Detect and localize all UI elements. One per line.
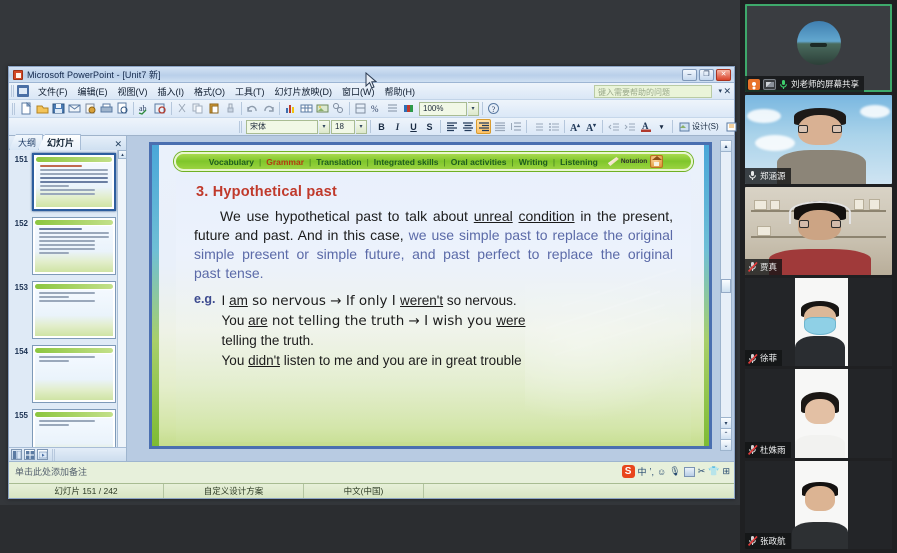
thumbnail-navbar	[35, 284, 113, 289]
thumbnail-line	[39, 420, 95, 422]
slide-thumbnail-pane: 大纲 幻灯片 ✕ 151	[9, 136, 127, 461]
thumbnail-body	[35, 226, 113, 272]
svg-text:?: ?	[492, 105, 496, 114]
scroll-up-icon[interactable]: ▴	[721, 141, 731, 152]
align-right-button[interactable]	[476, 119, 491, 134]
chevron-down-icon[interactable]: ▾	[718, 87, 722, 95]
mic-muted-icon	[748, 444, 757, 455]
menu-view[interactable]: 视图(V)	[113, 84, 153, 99]
slide-right-stripe	[704, 145, 709, 446]
example-lines: I am so nervous → If only I weren't so n…	[222, 291, 526, 370]
ime-toolbar: S 中 ʼ, ☺ 🎙 ✂ 👕 ⊞	[622, 465, 730, 478]
thumbnail-line	[40, 177, 108, 179]
slide-show-icon[interactable]	[37, 449, 48, 460]
screen-share-icon	[763, 79, 776, 90]
example-line-2-underline-are: are	[248, 313, 268, 328]
example-line-1-seg-b: so nervous → If only I	[248, 293, 400, 309]
slide-vertical-scrollbar[interactable]: ▴ ▾ ⌃ ⌄	[720, 140, 732, 451]
sogou-logo-icon[interactable]: S	[622, 465, 635, 478]
italic-button[interactable]: I	[390, 119, 405, 134]
host-badge-icon	[748, 79, 760, 90]
thumbnail-line	[39, 240, 95, 242]
participant-name-row: 郑涵源	[745, 168, 791, 184]
design-label: 设计(S)	[692, 121, 719, 132]
person-torso	[777, 150, 865, 184]
menu-edit[interactable]: 编辑(E)	[73, 84, 113, 99]
screen-root: Microsoft PowerPoint - [Unit7 新] – ❐ ✕ 文…	[0, 0, 897, 553]
toolbar-divider	[526, 120, 527, 133]
scrollbar-track[interactable]	[721, 152, 731, 417]
toolbar-divider	[171, 102, 172, 115]
thumbnail-preview[interactable]	[32, 281, 116, 339]
notes-placeholder: 单击此处添加备注	[15, 467, 87, 477]
close-icon[interactable]: ✕	[723, 85, 731, 97]
example-line-1-underline-am: am	[229, 293, 248, 308]
home-icon[interactable]	[650, 155, 663, 168]
nav-oral-activities[interactable]: Oral activities	[446, 157, 512, 167]
svg-text:%: %	[371, 104, 379, 114]
scroll-up-icon[interactable]: ▴	[118, 150, 126, 159]
menu-format[interactable]: 格式(O)	[189, 84, 230, 99]
permission-icon[interactable]	[83, 101, 98, 116]
toolbar-divider	[602, 120, 603, 133]
thumbnail-item[interactable]: 151	[9, 153, 126, 217]
window-controls: – ❐ ✕	[682, 69, 732, 81]
paragraph-underline-condition: condition	[519, 208, 575, 224]
person-torso	[769, 249, 872, 275]
standard-toolbar: ab % 100% ▾ ?	[9, 100, 734, 118]
slide-edit-area: Vocabulary | Grammar | Translation | Int…	[127, 136, 734, 461]
insert-table-icon[interactable]	[299, 101, 314, 116]
toolbar-grip[interactable]	[239, 121, 243, 133]
menu-slideshow[interactable]: 幻灯片放映(D)	[270, 84, 338, 99]
headphones	[789, 201, 851, 224]
participant-name: 刘老师的屏幕共享	[791, 78, 859, 90]
thumbnail-line	[39, 232, 109, 234]
nav-vocabulary[interactable]: Vocabulary	[204, 157, 259, 167]
minimize-button[interactable]: –	[682, 69, 697, 81]
align-left-button[interactable]	[444, 119, 459, 134]
help-search-input[interactable]: 键入需要帮助的问题	[594, 85, 712, 98]
new-icon[interactable]	[19, 101, 34, 116]
person-torso	[792, 522, 848, 548]
thumbnail-body	[35, 290, 113, 336]
window-title: Microsoft PowerPoint - [Unit7 新]	[27, 68, 161, 81]
bulleted-list-button[interactable]	[546, 119, 561, 134]
chevron-down-icon[interactable]: ▾	[319, 120, 330, 134]
example-line-2-underline-were: were	[496, 313, 525, 328]
nav-listening[interactable]: Listening	[555, 157, 603, 167]
help-icon[interactable]: ?	[486, 101, 501, 116]
toolbar-divider	[349, 102, 350, 115]
paragraph-underline-unreal: unreal	[474, 208, 513, 224]
thumbnail-line	[40, 189, 95, 191]
thumbnail-line	[39, 292, 95, 294]
person-head	[805, 486, 834, 511]
underline-button[interactable]: U	[406, 119, 421, 134]
zoom-level-input[interactable]: 100%	[419, 102, 467, 116]
toolbar-divider	[279, 102, 280, 115]
toolbar-divider	[564, 120, 565, 133]
thumbnail-number: 155	[11, 409, 28, 420]
participant-name-row: 张政航	[745, 533, 791, 549]
participant-name-row: 贾真	[745, 259, 782, 275]
status-language: 中文(中国)	[304, 484, 424, 498]
new-slide-icon	[726, 122, 737, 132]
mic-muted-icon	[748, 353, 757, 364]
insert-chart-icon[interactable]	[283, 101, 298, 116]
thumbnail-line	[39, 244, 95, 246]
avatar	[797, 21, 841, 65]
notation-label: Notation	[621, 158, 647, 165]
participant-name-row: 杜姝雨	[745, 442, 791, 458]
scroll-down-icon[interactable]: ▾	[721, 417, 731, 428]
font-size-input[interactable]: 18	[331, 120, 355, 134]
chevron-down-icon[interactable]: ▾	[356, 120, 367, 134]
thumbnail-line	[39, 424, 69, 426]
skin-icon[interactable]: 👕	[708, 466, 719, 477]
copy-icon[interactable]	[191, 101, 206, 116]
toolbar-divider	[672, 120, 673, 133]
spellcheck-icon[interactable]: ab	[137, 101, 152, 116]
participant-name: 张政航	[760, 535, 786, 547]
paragraph-seg-4: or simple future, and past perfect to re…	[297, 246, 673, 262]
normal-view-icon[interactable]	[11, 449, 22, 460]
mic-muted-icon	[748, 535, 757, 546]
format-painter-icon[interactable]	[223, 101, 238, 116]
insert-diagram-icon[interactable]	[331, 101, 346, 116]
mail-icon[interactable]	[67, 101, 82, 116]
shared-desktop-lower-band	[0, 505, 740, 553]
thumbnail-number: 154	[11, 345, 28, 356]
thumbnail-list[interactable]: 151	[9, 150, 126, 447]
slide-sorter-view-icon[interactable]	[24, 449, 35, 460]
save-icon[interactable]	[51, 101, 66, 116]
toolbar-divider	[241, 102, 242, 115]
example-line-4: You didn't listen to me and you are in g…	[222, 351, 526, 370]
thumbnail-navbar	[35, 220, 113, 225]
example-line-3: telling the truth.	[222, 331, 526, 350]
example-line-4-seg-a: You	[222, 353, 249, 368]
thumbnail-item[interactable]: 153	[9, 281, 126, 345]
slide-canvas[interactable]: Vocabulary | Grammar | Translation | Int…	[149, 142, 712, 449]
participant-tile[interactable]: 郑涵源	[745, 95, 892, 183]
thumbnail-navbar	[35, 348, 113, 353]
menu-tools[interactable]: 工具(T)	[230, 84, 270, 99]
screenshot-icon[interactable]: ✂	[698, 466, 706, 477]
animation-icon[interactable]: %	[369, 101, 384, 116]
thumbnail-navbar	[36, 157, 112, 162]
example-line-1: I am so nervous → If only I weren't so n…	[222, 291, 526, 311]
thumbnail-line	[39, 248, 95, 250]
nav-integrated-skills[interactable]: Integrated skills	[369, 157, 444, 167]
table-borders-icon[interactable]	[353, 101, 368, 116]
glasses	[798, 125, 842, 131]
thumbnail-item[interactable]: 155	[9, 409, 126, 447]
example-line-4-seg-b: listen to me and you are in great troubl…	[280, 353, 522, 368]
participant-name: 郑涵源	[760, 170, 786, 182]
paste-icon[interactable]	[207, 101, 222, 116]
nav-notation-button[interactable]: Notation	[608, 157, 647, 166]
formatting-toolbar: 宋体 ▾ 18 ▾ B I U S A▴ A▾ A ▾	[9, 118, 734, 136]
next-slide-icon[interactable]: ⌄	[721, 439, 731, 450]
menu-insert[interactable]: 插入(I)	[153, 84, 190, 99]
color-icon[interactable]	[401, 101, 416, 116]
increase-font-size-button[interactable]: A▴	[568, 119, 583, 134]
svg-text:▾: ▾	[592, 123, 597, 129]
thumbnail-item[interactable]: 154	[9, 345, 126, 409]
numbered-list-button[interactable]	[530, 119, 545, 134]
participant-tile-screen-share[interactable]: 刘老师的屏幕共享	[745, 4, 892, 92]
toolbox-icon[interactable]: ⊞	[722, 466, 730, 477]
thumbnail-line	[40, 185, 69, 187]
thumbnail-preview[interactable]	[32, 409, 116, 447]
slide-heading: 3. Hypothetical past	[196, 184, 677, 200]
status-spare	[424, 484, 734, 498]
thumbnail-preview[interactable]	[32, 153, 116, 211]
slide-left-stripe	[152, 145, 159, 446]
decrease-indent-button[interactable]	[606, 119, 621, 134]
workspace: 大纲 幻灯片 ✕ 151	[9, 136, 734, 461]
thumbnail-number: 151	[11, 153, 28, 164]
example-line-1-underline-werent: weren't	[400, 293, 443, 308]
thumbnail-body	[35, 418, 113, 447]
participant-name: 贾真	[760, 261, 777, 273]
text-shadow-button[interactable]: S	[422, 119, 437, 134]
close-pane-icon[interactable]: ✕	[114, 139, 126, 150]
thumbnail-number: 152	[11, 217, 28, 228]
grid-icon[interactable]	[385, 101, 400, 116]
person-torso	[795, 435, 845, 458]
slide-paragraph: We use hypothetical past to talk about u…	[194, 207, 673, 283]
paragraph-seg-1: We use hypothetical past to talk about	[220, 208, 474, 224]
example-line-4-underline-didnt: didn't	[248, 353, 280, 368]
mic-on-icon	[779, 79, 788, 90]
thumbnail-line	[39, 356, 95, 358]
example-line-2-seg-b: not telling the truth → I wish you	[268, 313, 497, 329]
slide-example-block: e.g. I am so nervous → If only I weren't…	[194, 291, 677, 370]
design-button[interactable]: 设计(S)	[676, 121, 722, 132]
menu-file[interactable]: 文件(F)	[33, 84, 73, 99]
example-line-1-seg-a: I	[222, 293, 230, 308]
insert-picture-icon[interactable]	[315, 101, 330, 116]
shelf-item	[757, 226, 772, 237]
example-line-2: You are not telling the truth → I wish y…	[222, 311, 526, 331]
thumbnail-line	[39, 360, 69, 362]
line-spacing-button[interactable]	[508, 119, 523, 134]
participant-name: 杜姝雨	[760, 444, 786, 456]
meeting-participant-sidebar: 刘老师的屏幕共享 郑涵源	[740, 0, 897, 553]
person-head	[805, 399, 834, 424]
thumbnail-preview[interactable]	[32, 217, 116, 275]
chevron-down-icon[interactable]: ▾	[654, 119, 669, 134]
thumbnail-line	[40, 173, 108, 175]
nav-translation[interactable]: Translation	[311, 157, 366, 167]
tab-outline[interactable]: 大纲	[9, 134, 43, 150]
thumbnail-line	[40, 169, 108, 171]
increase-indent-button[interactable]	[622, 119, 637, 134]
powerpoint-app-icon	[13, 70, 23, 80]
thumbnail-line	[39, 300, 95, 302]
mic-on-icon	[748, 170, 757, 181]
close-button[interactable]: ✕	[716, 69, 731, 81]
font-color-button[interactable]: A	[638, 119, 653, 134]
pane-grip[interactable]	[52, 449, 56, 461]
thumbnail-number: 153	[11, 281, 28, 292]
slide-section-navbar: Vocabulary | Grammar | Translation | Int…	[174, 152, 693, 171]
shelf-item	[770, 200, 780, 210]
thumbnail-line	[40, 181, 108, 183]
pencil-icon	[608, 157, 619, 166]
toolbar-divider	[482, 102, 483, 115]
shelf-item	[754, 200, 767, 210]
example-line-2-seg-a: You	[222, 313, 249, 328]
font-name-input[interactable]: 宋体	[246, 120, 318, 134]
svg-text:ab: ab	[139, 104, 147, 113]
status-design-template: 自定义设计方案	[164, 484, 304, 498]
svg-text:▴: ▴	[576, 123, 581, 129]
mouse-cursor	[365, 72, 377, 90]
scrollbar-thumb[interactable]	[721, 279, 731, 293]
chevron-down-icon[interactable]: ▾	[468, 102, 479, 116]
view-mode-buttons	[9, 447, 126, 461]
print-icon[interactable]	[99, 101, 114, 116]
participant-name-row: 刘老师的屏幕共享	[745, 76, 864, 92]
menubar-grip[interactable]	[11, 85, 15, 97]
punctuation-icon[interactable]: ʼ,	[650, 467, 655, 477]
status-slide-counter: 幻灯片 151 / 242	[9, 484, 164, 498]
thumbnail-line	[39, 228, 82, 230]
restore-button[interactable]: ❐	[699, 69, 714, 81]
document-icon	[17, 85, 29, 97]
slide-background: Vocabulary | Grammar | Translation | Int…	[152, 145, 709, 446]
redo-icon[interactable]	[261, 101, 276, 116]
toolbar-divider	[133, 102, 134, 115]
research-icon[interactable]	[153, 101, 168, 116]
align-justify-button[interactable]	[492, 119, 507, 134]
thumbnail-pane-tabs: 大纲 幻灯片 ✕	[9, 136, 126, 150]
undo-icon[interactable]	[245, 101, 260, 116]
open-icon[interactable]	[35, 101, 50, 116]
thumbnail-scrollbar[interactable]: ▴	[117, 150, 126, 447]
align-center-button[interactable]	[460, 119, 475, 134]
example-line-1-seg-c: so nervous.	[443, 293, 517, 308]
person-torso	[795, 336, 845, 366]
paragraph-seg-5: past tense.	[194, 265, 264, 281]
example-label: e.g.	[194, 291, 222, 370]
emoji-icon[interactable]: ☺	[657, 467, 666, 477]
notes-pane[interactable]: 单击此处添加备注 S 中 ʼ, ☺ 🎙 ✂ 👕 ⊞	[9, 461, 734, 483]
participant-name: 徐菲	[760, 352, 777, 364]
thumbnail-preview[interactable]	[32, 345, 116, 403]
soft-keyboard-icon[interactable]	[684, 467, 695, 477]
print-preview-icon[interactable]	[115, 101, 130, 116]
participant-tile[interactable]: 杜姝雨	[745, 369, 892, 457]
toolbar-divider	[440, 120, 441, 133]
face-mask	[804, 317, 836, 335]
design-icon	[679, 122, 690, 132]
nav-writing[interactable]: Writing	[514, 157, 553, 167]
powerpoint-window: Microsoft PowerPoint - [Unit7 新] – ❐ ✕ 文…	[8, 66, 735, 499]
thumbnail-item[interactable]: 152	[9, 217, 126, 281]
thumbnail-body	[36, 163, 112, 207]
cut-icon[interactable]	[175, 101, 190, 116]
participant-tile[interactable]: 贾真	[745, 187, 892, 275]
thumbnail-line	[39, 236, 109, 238]
chinese-mode-icon[interactable]: 中	[638, 465, 647, 478]
participant-name-row: 徐菲	[745, 350, 782, 366]
mic-muted-icon	[748, 261, 757, 272]
previous-slide-icon[interactable]: ⌃	[721, 428, 731, 439]
toolbar-divider	[370, 120, 371, 133]
participant-tile[interactable]: 张政航	[745, 461, 892, 549]
thumbnail-line	[39, 252, 69, 254]
decrease-font-size-button[interactable]: A▾	[584, 119, 599, 134]
shelf-item	[869, 199, 881, 210]
thumbnail-line	[39, 296, 69, 298]
shelf-item	[854, 199, 864, 210]
participant-tile[interactable]: 徐菲	[745, 278, 892, 366]
voice-input-icon[interactable]: 🎙	[669, 466, 680, 477]
thumbnail-body	[35, 354, 113, 400]
slide-content-panel: 3. Hypothetical past We use hypothetical…	[176, 174, 691, 442]
thumbnail-line	[40, 165, 82, 167]
tab-slides[interactable]: 幻灯片	[38, 134, 81, 150]
nav-grammar[interactable]: Grammar	[261, 157, 309, 167]
thumbnail-line	[40, 193, 95, 195]
bold-button[interactable]: B	[374, 119, 389, 134]
menu-help[interactable]: 帮助(H)	[380, 84, 421, 99]
toolbar-grip[interactable]	[12, 103, 16, 115]
thumbnail-navbar	[35, 412, 113, 417]
statusbar: 幻灯片 151 / 242 自定义设计方案 中文(中国)	[9, 483, 734, 498]
